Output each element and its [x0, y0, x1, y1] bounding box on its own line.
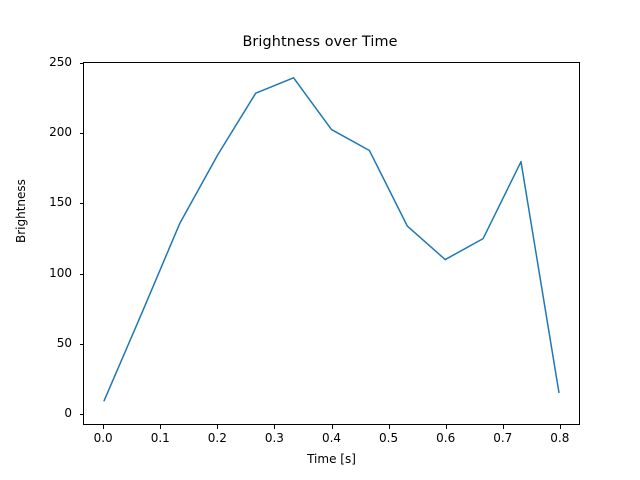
x-tick-label: 0.7 — [473, 431, 533, 445]
y-tick-label: 200 — [0, 125, 72, 139]
x-tick-label: 0.2 — [187, 431, 247, 445]
x-tick-label: 0.1 — [130, 431, 190, 445]
plot-area — [83, 62, 580, 425]
x-tick-label: 0.4 — [302, 431, 362, 445]
y-tick-label: 100 — [0, 266, 72, 280]
x-tick-mark — [560, 425, 561, 429]
x-tick-label: 0.5 — [359, 431, 419, 445]
x-tick-label: 0.3 — [244, 431, 304, 445]
y-tick-label: 150 — [0, 195, 72, 209]
x-tick-mark — [503, 425, 504, 429]
x-tick-label: 0.6 — [416, 431, 476, 445]
x-tick-mark — [332, 425, 333, 429]
y-tick-label: 50 — [0, 336, 72, 350]
figure-canvas: Brightness over Time Brightness Time [s]… — [0, 0, 640, 480]
y-tick-label: 0 — [0, 406, 72, 420]
x-tick-label: 0.0 — [73, 431, 133, 445]
x-tick-mark — [389, 425, 390, 429]
line-series-svg — [84, 63, 579, 424]
x-tick-mark — [446, 425, 447, 429]
x-tick-label: 0.8 — [530, 431, 590, 445]
x-tick-mark — [160, 425, 161, 429]
line-series-brightness — [104, 78, 559, 401]
y-tick-label: 250 — [0, 55, 72, 69]
x-tick-mark — [274, 425, 275, 429]
y-axis-label: Brightness — [14, 179, 28, 243]
x-tick-mark — [103, 425, 104, 429]
chart-title: Brightness over Time — [0, 34, 640, 50]
x-axis-label: Time [s] — [83, 452, 580, 466]
x-tick-mark — [217, 425, 218, 429]
